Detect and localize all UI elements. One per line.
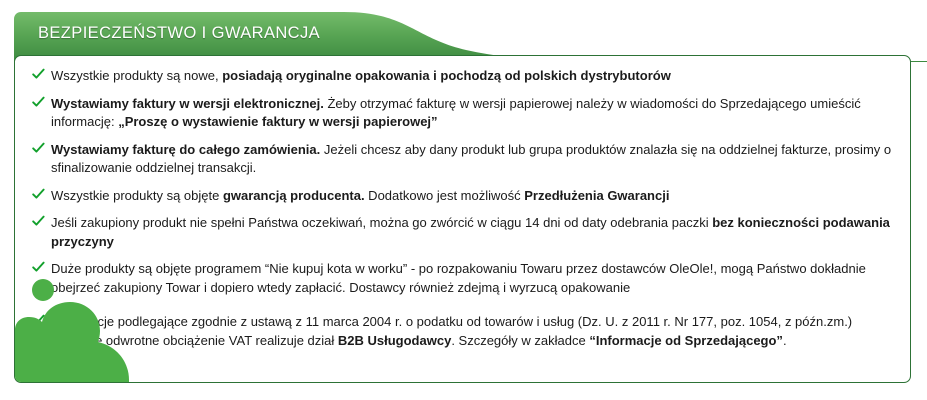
check-icon [32, 314, 45, 329]
list-item-text: Transakcje podlegające zgodnie z ustawą … [51, 314, 852, 348]
list-item: Wystawiamy fakturę do całego zamówienia.… [32, 141, 896, 178]
list-item-text: Wystawiamy fakturę do całego zamówienia.… [51, 142, 891, 176]
emphasis-text: „Proszę o wystawienie faktury w wersji p… [118, 114, 437, 129]
body-text: . [783, 333, 787, 348]
body-text: Dodatkowo jest możliwość [365, 188, 525, 203]
list-item: Duże produkty są objęte programem “Nie k… [32, 260, 896, 297]
check-icon [32, 215, 45, 230]
body-text: Jeśli zakupiony produkt nie spełni Państ… [51, 215, 712, 230]
emphasis-text: Wystawiamy fakturę do całego zamówienia. [51, 142, 320, 157]
emphasis-text: B2B Usługodawcy [338, 333, 451, 348]
list-item: Wszystkie produkty są nowe, posiadają or… [32, 67, 896, 86]
content-panel: Wszystkie produkty są nowe, posiadają or… [14, 55, 911, 383]
list-item-text: Wszystkie produkty są objęte gwarancją p… [51, 188, 669, 203]
check-icon [32, 261, 45, 276]
emphasis-text: “Informacje od Sprzedającego” [589, 333, 783, 348]
list-item: Transakcje podlegające zgodnie z ustawą … [32, 313, 896, 350]
body-text: Duże produkty są objęte programem “Nie k… [51, 261, 866, 295]
emphasis-text: Przedłużenia Gwarancji [524, 188, 669, 203]
list-item-text: Wszystkie produkty są nowe, posiadają or… [51, 68, 671, 83]
list-item: Jeśli zakupiony produkt nie spełni Państ… [32, 214, 896, 251]
check-icon [32, 96, 45, 111]
emphasis-text: gwarancją producenta. [223, 188, 365, 203]
list-item-text: Duże produkty są objęte programem “Nie k… [51, 261, 866, 295]
emphasis-text: posiadają oryginalne opakowania i pochod… [222, 68, 671, 83]
safety-and-warranty-panel: BEZPIECZEŃSTWO I GWARANCJA Wszystkie pro… [0, 0, 927, 400]
check-icon [32, 188, 45, 203]
body-text: . Szczegóły w zakładce [451, 333, 589, 348]
page-title: BEZPIECZEŃSTWO I GWARANCJA [38, 24, 320, 43]
list-item-text: Jeśli zakupiony produkt nie spełni Państ… [51, 215, 890, 249]
list-item: Wystawiamy faktury w wersji elektroniczn… [32, 95, 896, 132]
check-icon [32, 68, 45, 83]
body-text: Wszystkie produkty są nowe, [51, 68, 222, 83]
list-item-text: Wystawiamy faktury w wersji elektroniczn… [51, 96, 861, 130]
guarantee-list: Wszystkie produkty są nowe, posiadają or… [15, 56, 911, 359]
emphasis-text: Wystawiamy faktury w wersji elektroniczn… [51, 96, 324, 111]
check-icon [32, 142, 45, 157]
list-item: Wszystkie produkty są objęte gwarancją p… [32, 187, 896, 206]
body-text: Wszystkie produkty są objęte [51, 188, 223, 203]
